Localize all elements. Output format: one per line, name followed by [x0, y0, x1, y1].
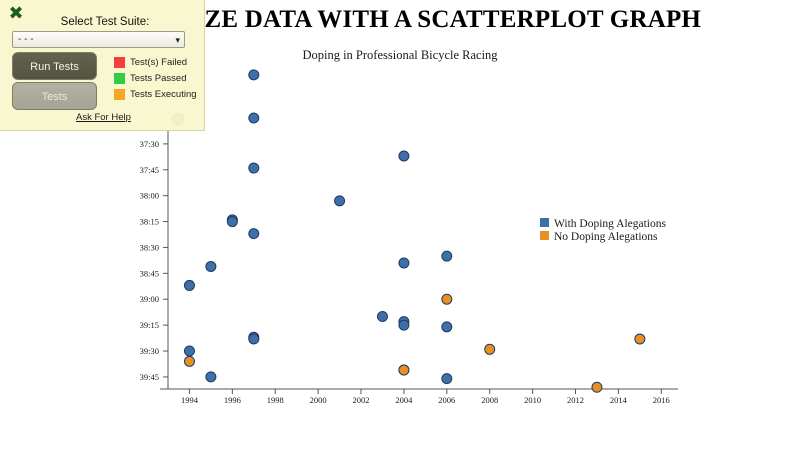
data-point[interactable] [249, 113, 259, 123]
tests-button[interactable]: Tests [12, 82, 97, 110]
data-point[interactable] [184, 356, 194, 366]
data-point[interactable] [399, 258, 409, 268]
data-point[interactable] [485, 344, 495, 354]
status-swatch-failed [114, 57, 125, 68]
status-label-passed: Tests Passed [130, 72, 187, 85]
x-tick-label: 2002 [353, 395, 370, 405]
data-point[interactable] [442, 322, 452, 332]
data-point[interactable] [399, 151, 409, 161]
status-swatch-passed [114, 73, 125, 84]
x-tick-label: 2016 [653, 395, 670, 405]
x-tick-label: 2000 [310, 395, 327, 405]
legend-swatch [540, 231, 549, 240]
legend-swatch [540, 218, 549, 227]
y-tick-label: 39:00 [140, 294, 159, 304]
data-point[interactable] [249, 70, 259, 80]
data-point[interactable] [399, 320, 409, 330]
chart-legend: With Doping AlegationsNo Doping Alegatio… [540, 218, 666, 243]
x-tick-label: 1998 [267, 395, 284, 405]
x-tick-label: 1996 [224, 395, 241, 405]
run-tests-button[interactable]: Run Tests [12, 52, 97, 80]
status-label-failed: Test(s) Failed [130, 56, 187, 69]
data-point[interactable] [206, 261, 216, 271]
y-tick-label: 37:30 [140, 139, 159, 149]
x-tick-label: 2014 [610, 395, 628, 405]
obscured-data-point [172, 113, 184, 125]
data-point[interactable] [442, 251, 452, 261]
data-point[interactable] [184, 346, 194, 356]
test-suite-select-value: - - - [18, 34, 34, 45]
y-tick-label: 38:30 [140, 242, 159, 252]
status-label-executing: Tests Executing [130, 88, 197, 101]
y-tick-label: 38:15 [140, 217, 159, 227]
data-point[interactable] [399, 365, 409, 375]
x-tick-label: 2006 [438, 395, 455, 405]
y-tick-label: 38:45 [140, 268, 159, 278]
x-tick-label: 2008 [481, 395, 498, 405]
data-point[interactable] [227, 217, 237, 227]
data-point[interactable] [249, 229, 259, 239]
data-point[interactable] [249, 334, 259, 344]
legend-label: With Doping Alegations [554, 218, 666, 230]
test-suite-panel: ✖ Select Test Suite: - - - ▾ Run Tests T… [0, 0, 205, 131]
y-tick-label: 39:30 [140, 346, 159, 356]
y-tick-label: 37:45 [140, 165, 159, 175]
status-swatch-executing [114, 89, 125, 100]
data-point[interactable] [592, 382, 602, 392]
data-point[interactable] [442, 374, 452, 384]
legend-label: No Doping Alegations [554, 231, 658, 243]
y-tick-label: 39:45 [140, 372, 159, 382]
x-tick-label: 2010 [524, 395, 541, 405]
data-point[interactable] [335, 196, 345, 206]
data-point[interactable] [206, 372, 216, 382]
data-point[interactable] [377, 312, 387, 322]
data-point[interactable] [249, 163, 259, 173]
data-point[interactable] [442, 294, 452, 304]
panel-heading: Select Test Suite: [10, 16, 200, 28]
data-point[interactable] [635, 334, 645, 344]
x-tick-label: 1994 [181, 395, 199, 405]
x-tick-label: 2012 [567, 395, 584, 405]
data-point[interactable] [184, 280, 194, 290]
x-tick-label: 2004 [395, 395, 413, 405]
y-tick-label: 38:00 [140, 191, 159, 201]
ask-for-help-link[interactable]: Ask For Help [76, 112, 131, 123]
chevron-down-icon: ▾ [175, 34, 180, 46]
y-axis-ticks: 37:3037:4538:0038:1538:3038:4539:0039:15… [140, 139, 168, 382]
test-suite-select[interactable]: - - - ▾ [12, 31, 185, 48]
y-tick-label: 39:15 [140, 320, 159, 330]
